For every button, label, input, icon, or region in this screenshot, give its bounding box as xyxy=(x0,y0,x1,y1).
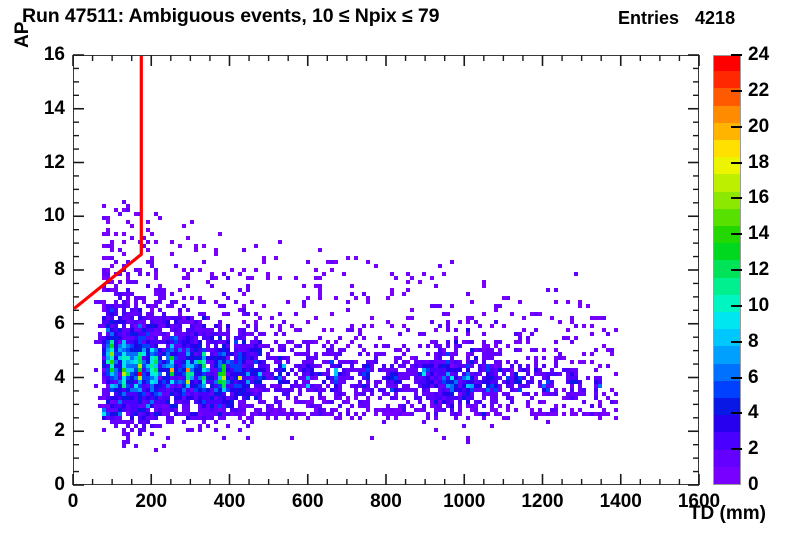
root-canvas: Run 47511: Ambiguous events, 10 ≤ Npix ≤… xyxy=(0,0,788,534)
palette-label-24: 24 xyxy=(748,44,769,66)
y-tick-label-4: 4 xyxy=(23,367,65,389)
palette-tick xyxy=(731,412,742,414)
x-axis-title: TD (mm) xyxy=(689,503,766,525)
palette-label-8: 8 xyxy=(748,331,759,353)
y-tick-label-0: 0 xyxy=(23,474,65,496)
palette-swatch xyxy=(714,346,740,364)
x-tick-label-1200: 1200 xyxy=(521,491,563,513)
palette-swatch xyxy=(714,329,740,347)
x-tick-label-200: 200 xyxy=(135,491,167,513)
palette-tick xyxy=(731,233,742,235)
stats-entries-value: 4218 xyxy=(695,8,735,29)
palette-swatch xyxy=(714,157,740,175)
palette-tick xyxy=(731,341,742,343)
palette-tick xyxy=(731,54,742,56)
palette-tick xyxy=(731,377,742,379)
palette-swatch xyxy=(714,294,740,312)
palette-label-6: 6 xyxy=(748,367,759,389)
palette-tick xyxy=(731,162,742,164)
palette-label-4: 4 xyxy=(748,402,759,424)
palette-label-2: 2 xyxy=(748,438,759,460)
selection-cut-line xyxy=(74,56,141,309)
palette-swatch xyxy=(714,415,740,433)
palette-swatch xyxy=(714,174,740,192)
x-tick-label-0: 0 xyxy=(68,491,79,513)
palette-tick xyxy=(731,305,742,307)
palette-swatch xyxy=(714,432,740,450)
y-tick-label-14: 14 xyxy=(23,98,65,120)
palette-label-10: 10 xyxy=(748,295,769,317)
y-tick-label-8: 8 xyxy=(23,259,65,281)
x-tick-label-1400: 1400 xyxy=(600,491,642,513)
palette-label-14: 14 xyxy=(748,223,769,245)
palette-swatch xyxy=(714,55,740,71)
palette-tick xyxy=(731,197,742,199)
palette-swatch xyxy=(714,380,740,398)
y-tick-label-12: 12 xyxy=(23,152,65,174)
stats-entries-label: Entries xyxy=(618,8,679,29)
palette-swatch xyxy=(714,191,740,209)
plot-frame[interactable] xyxy=(73,55,699,485)
page-title: Run 47511: Ambiguous events, 10 ≤ Npix ≤… xyxy=(22,5,439,28)
x-tick-label-800: 800 xyxy=(370,491,402,513)
y-tick-label-6: 6 xyxy=(23,313,65,335)
palette-swatch xyxy=(714,466,740,484)
stats-box: Entries4218 xyxy=(618,8,735,29)
y-axis-title: AP xyxy=(12,22,34,48)
x-tick-label-600: 600 xyxy=(292,491,324,513)
palette-label-20: 20 xyxy=(748,116,769,138)
y-tick-label-2: 2 xyxy=(23,420,65,442)
palette-label-0: 0 xyxy=(748,474,759,496)
palette-label-12: 12 xyxy=(748,259,769,281)
y-tick-label-10: 10 xyxy=(23,205,65,227)
palette-tick xyxy=(731,269,742,271)
palette-swatch xyxy=(714,277,740,295)
palette-label-18: 18 xyxy=(748,152,769,174)
x-tick-label-1000: 1000 xyxy=(443,491,485,513)
x-tick-label-400: 400 xyxy=(214,491,246,513)
palette-tick xyxy=(731,90,742,92)
palette-swatch xyxy=(714,243,740,261)
cut-line-overlay xyxy=(74,56,699,485)
palette-swatch xyxy=(714,105,740,123)
palette-swatch xyxy=(714,71,740,89)
palette-label-22: 22 xyxy=(748,80,769,102)
palette-tick xyxy=(731,126,742,128)
palette-tick xyxy=(731,448,742,450)
palette-swatch xyxy=(714,139,740,157)
palette-swatch xyxy=(714,449,740,467)
palette-swatch xyxy=(714,208,740,226)
palette-swatch xyxy=(714,311,740,329)
palette-label-16: 16 xyxy=(748,187,769,209)
